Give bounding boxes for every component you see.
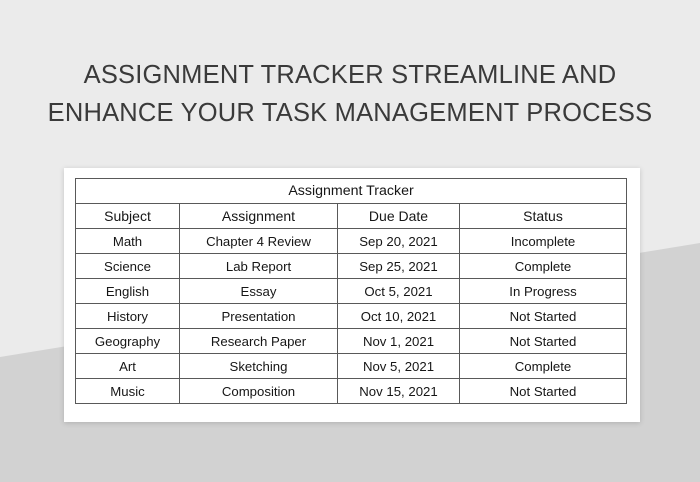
- cell-assignment[interactable]: Composition: [180, 379, 338, 404]
- page-title-line-1: ASSIGNMENT TRACKER STREAMLINE AND: [0, 56, 700, 94]
- sheet-title-cell: Assignment Tracker: [76, 179, 627, 204]
- cell-due-date[interactable]: Nov 1, 2021: [338, 329, 460, 354]
- cell-subject[interactable]: Geography: [76, 329, 180, 354]
- page-title: ASSIGNMENT TRACKER STREAMLINE AND ENHANC…: [0, 56, 700, 132]
- column-header-status[interactable]: Status: [460, 204, 627, 229]
- cell-status[interactable]: In Progress: [460, 279, 627, 304]
- table-row: History Presentation Oct 10, 2021 Not St…: [76, 304, 627, 329]
- table-row: Music Composition Nov 15, 2021 Not Start…: [76, 379, 627, 404]
- cell-assignment[interactable]: Sketching: [180, 354, 338, 379]
- assignment-table: Assignment Tracker Subject Assignment Du…: [75, 178, 627, 404]
- cell-assignment[interactable]: Essay: [180, 279, 338, 304]
- cell-subject[interactable]: Art: [76, 354, 180, 379]
- page-title-line-2: ENHANCE YOUR TASK MANAGEMENT PROCESS: [0, 94, 700, 132]
- cell-status[interactable]: Complete: [460, 354, 627, 379]
- table-row: Geography Research Paper Nov 1, 2021 Not…: [76, 329, 627, 354]
- column-header-assignment[interactable]: Assignment: [180, 204, 338, 229]
- cell-status[interactable]: Not Started: [460, 304, 627, 329]
- table-row: Science Lab Report Sep 25, 2021 Complete: [76, 254, 627, 279]
- table-row: Math Chapter 4 Review Sep 20, 2021 Incom…: [76, 229, 627, 254]
- cell-due-date[interactable]: Oct 5, 2021: [338, 279, 460, 304]
- cell-subject[interactable]: Science: [76, 254, 180, 279]
- table-row: English Essay Oct 5, 2021 In Progress: [76, 279, 627, 304]
- cell-due-date[interactable]: Nov 15, 2021: [338, 379, 460, 404]
- cell-assignment[interactable]: Lab Report: [180, 254, 338, 279]
- cell-due-date[interactable]: Sep 25, 2021: [338, 254, 460, 279]
- table-title-row: Assignment Tracker: [76, 179, 627, 204]
- cell-status[interactable]: Not Started: [460, 379, 627, 404]
- cell-assignment[interactable]: Chapter 4 Review: [180, 229, 338, 254]
- cell-status[interactable]: Not Started: [460, 329, 627, 354]
- cell-subject[interactable]: English: [76, 279, 180, 304]
- cell-assignment[interactable]: Presentation: [180, 304, 338, 329]
- column-header-subject[interactable]: Subject: [76, 204, 180, 229]
- table-header-row: Subject Assignment Due Date Status: [76, 204, 627, 229]
- cell-subject[interactable]: Music: [76, 379, 180, 404]
- cell-subject[interactable]: History: [76, 304, 180, 329]
- cell-assignment[interactable]: Research Paper: [180, 329, 338, 354]
- cell-status[interactable]: Incomplete: [460, 229, 627, 254]
- cell-subject[interactable]: Math: [76, 229, 180, 254]
- cell-due-date[interactable]: Sep 20, 2021: [338, 229, 460, 254]
- table-card: Assignment Tracker Subject Assignment Du…: [64, 168, 640, 422]
- column-header-due-date[interactable]: Due Date: [338, 204, 460, 229]
- cell-due-date[interactable]: Oct 10, 2021: [338, 304, 460, 329]
- cell-due-date[interactable]: Nov 5, 2021: [338, 354, 460, 379]
- table-row: Art Sketching Nov 5, 2021 Complete: [76, 354, 627, 379]
- cell-status[interactable]: Complete: [460, 254, 627, 279]
